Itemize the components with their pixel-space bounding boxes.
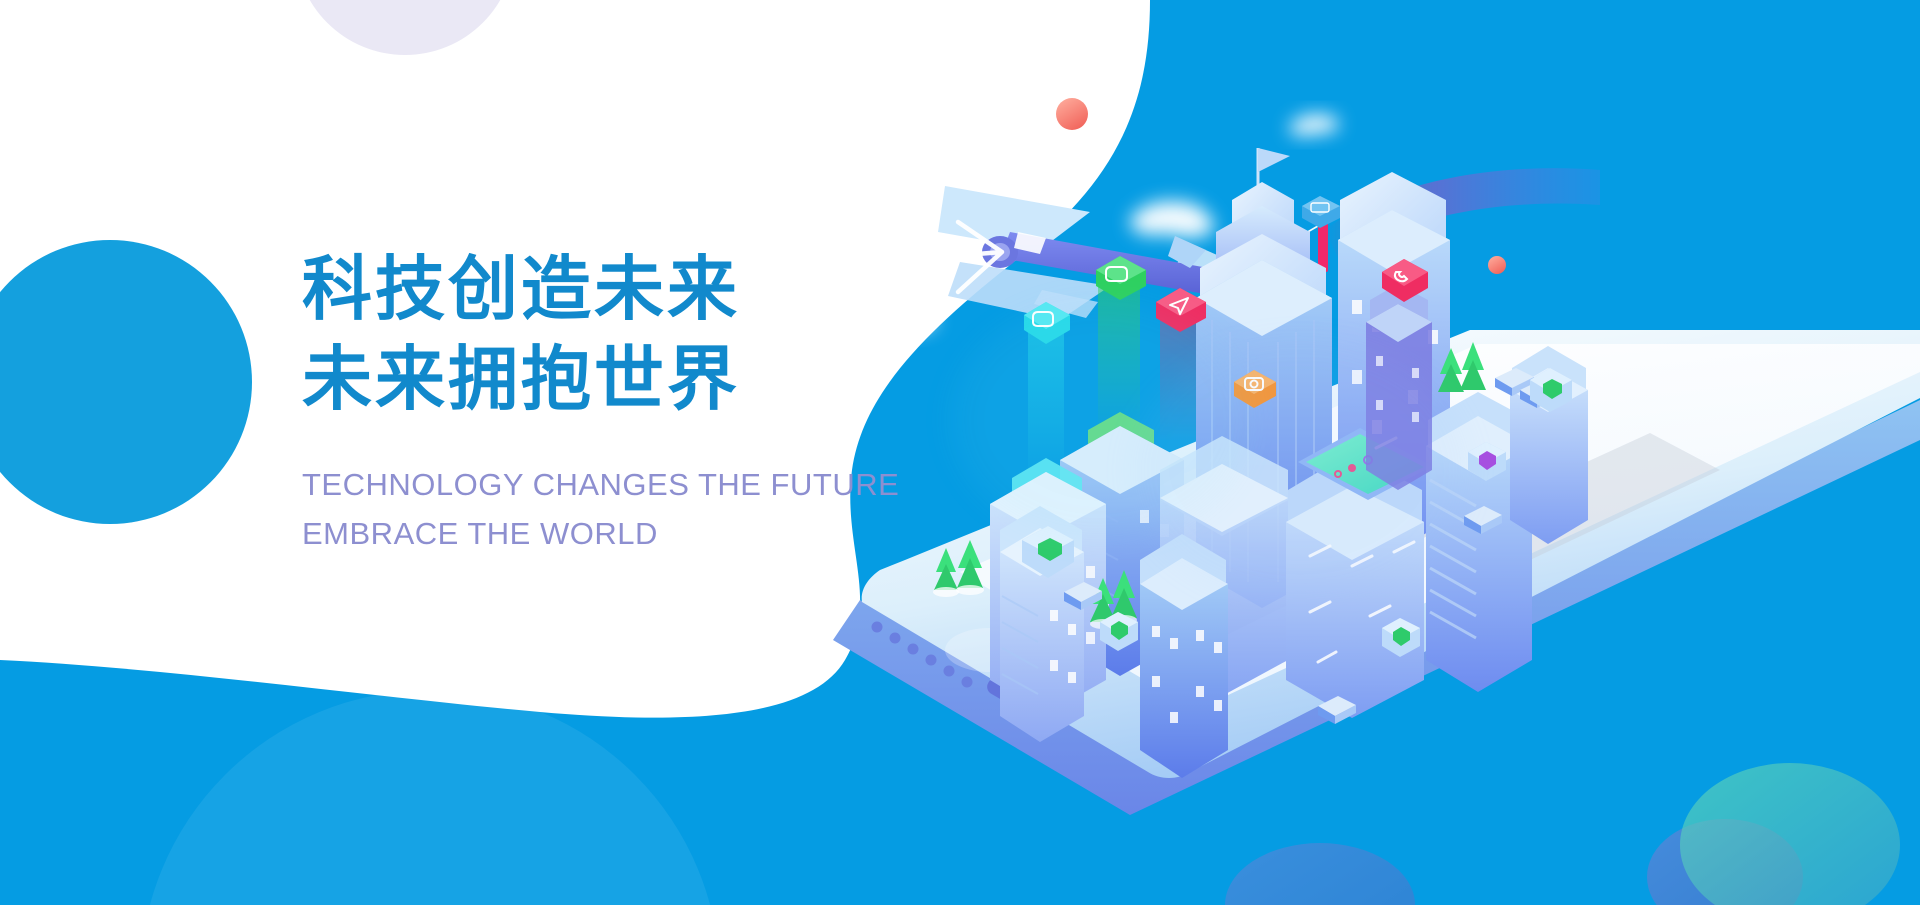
headline-line-1: 科技创造未来 xyxy=(302,244,1022,334)
headline-block: 科技创造未来 未来拥抱世界 TECHNOLOGY CHANGES THE FUT… xyxy=(302,244,1022,556)
beacon-keyboard-blue xyxy=(1302,196,1340,228)
headline-line-2: 未来拥抱世界 xyxy=(302,334,1022,424)
subtitle-line-2: EMBRACE THE WORLD xyxy=(302,511,1022,556)
cloud-large xyxy=(1130,201,1214,238)
banner-flag xyxy=(1318,222,1328,272)
subtitle-line-1: TECHNOLOGY CHANGES THE FUTURE xyxy=(302,462,1022,507)
coral-dot-small xyxy=(1488,256,1506,274)
cloud-right xyxy=(1289,114,1339,136)
flag-icon xyxy=(1258,148,1290,172)
coral-dot-large xyxy=(1056,98,1088,130)
banner-canvas: 科技创造未来 未来拥抱世界 TECHNOLOGY CHANGES THE FUT… xyxy=(0,0,1920,905)
